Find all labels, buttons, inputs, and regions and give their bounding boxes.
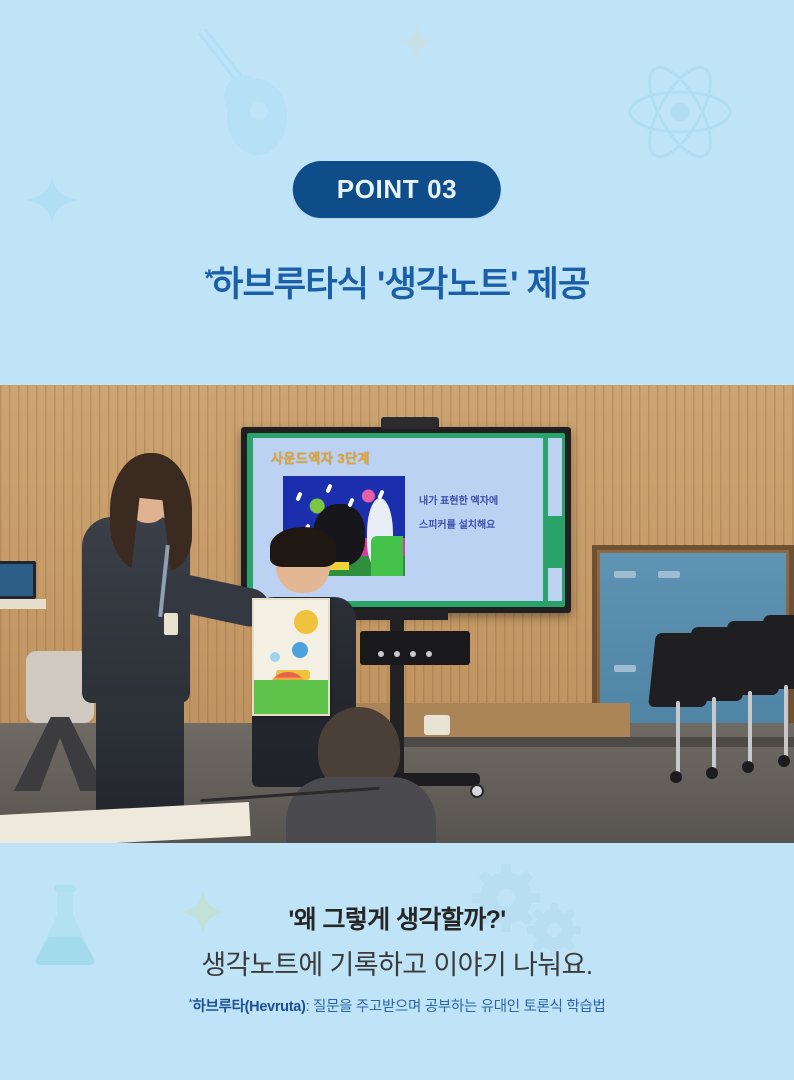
point-badge-label: POINT 03 bbox=[337, 174, 457, 204]
stacked-chair bbox=[756, 615, 794, 689]
teacher-id-badge bbox=[164, 613, 178, 635]
equipment-led bbox=[378, 651, 384, 657]
laptop bbox=[0, 561, 36, 599]
side-desk bbox=[0, 599, 46, 609]
caption-description: 생각노트에 기록하고 이야기 나눠요. bbox=[0, 943, 794, 982]
footnote-separator: : bbox=[306, 999, 313, 1015]
student-hair bbox=[270, 527, 336, 567]
classroom-photo: 사운드액자 3단계 내가 표현한 액자에 스피커를 bbox=[0, 385, 794, 843]
laptop-screen bbox=[0, 564, 33, 596]
artwork-confetti bbox=[325, 484, 332, 494]
chair-wheel bbox=[670, 771, 682, 783]
header-section: POINT 03 *하브루타식 '생각노트' 제공 bbox=[0, 0, 794, 385]
page-title: *하브루타식 '생각노트' 제공 bbox=[0, 256, 794, 307]
locker-handle bbox=[614, 665, 636, 672]
chair-leg bbox=[676, 701, 680, 773]
chair-wheel bbox=[706, 767, 718, 779]
wall-outlet bbox=[424, 715, 450, 735]
footnote-term: 하브루타(Hevruta) bbox=[192, 999, 305, 1015]
slide-title: 사운드액자 3단계 bbox=[271, 448, 370, 467]
chair-leg bbox=[712, 697, 716, 769]
av-equipment-box bbox=[360, 631, 470, 665]
equipment-led bbox=[410, 651, 416, 657]
slide-body-text: 내가 표현한 액자에 스피커를 설치해요 bbox=[419, 490, 498, 538]
equipment-led bbox=[394, 651, 400, 657]
chair-leg bbox=[784, 685, 788, 757]
point-badge: POINT 03 bbox=[293, 161, 501, 218]
display-camera-icon bbox=[381, 417, 439, 429]
slide-body-line-2: 스피커를 설치해요 bbox=[419, 514, 498, 538]
slide-side-accent bbox=[548, 516, 562, 568]
artwork-grass bbox=[254, 680, 328, 714]
stacked-chairs bbox=[650, 615, 794, 791]
slide-body-line-1: 내가 표현한 액자에 bbox=[419, 490, 498, 514]
artwork-shape bbox=[371, 536, 403, 576]
artwork-dot bbox=[292, 642, 308, 658]
promo-page: POINT 03 *하브루타식 '생각노트' 제공 사운드액자 3단계 bbox=[0, 0, 794, 1080]
chair-wheel bbox=[742, 761, 754, 773]
student-artwork bbox=[252, 598, 330, 716]
caption-question: '왜 그렇게 생각할까?' bbox=[0, 900, 794, 936]
locker-handle bbox=[614, 571, 636, 578]
footnote: *하브루타(Hevruta): 질문을 주고받으며 공부하는 유대인 토론식 학… bbox=[0, 995, 794, 1016]
locker-handle bbox=[658, 571, 680, 578]
artwork-sun bbox=[294, 610, 318, 634]
artwork-confetti bbox=[377, 490, 384, 500]
stand-caster bbox=[470, 784, 484, 798]
chair-wheel bbox=[778, 755, 790, 767]
teacher-legs bbox=[96, 697, 184, 813]
chair-leg bbox=[748, 691, 752, 763]
footnote-body: 질문을 주고받으며 공부하는 유대인 토론식 학습법 bbox=[313, 999, 605, 1015]
seated-child-body bbox=[286, 777, 436, 843]
artwork-dot bbox=[270, 652, 280, 662]
equipment-led bbox=[426, 651, 432, 657]
artwork-confetti bbox=[295, 492, 302, 502]
artwork-confetti bbox=[347, 498, 354, 508]
slide-side-strip bbox=[548, 438, 562, 601]
caption-section: '왜 그렇게 생각할까?' 생각노트에 기록하고 이야기 나눠요. *하브루타(… bbox=[0, 843, 794, 1080]
headline-text: 하브루타식 '생각노트' 제공 bbox=[211, 265, 589, 304]
